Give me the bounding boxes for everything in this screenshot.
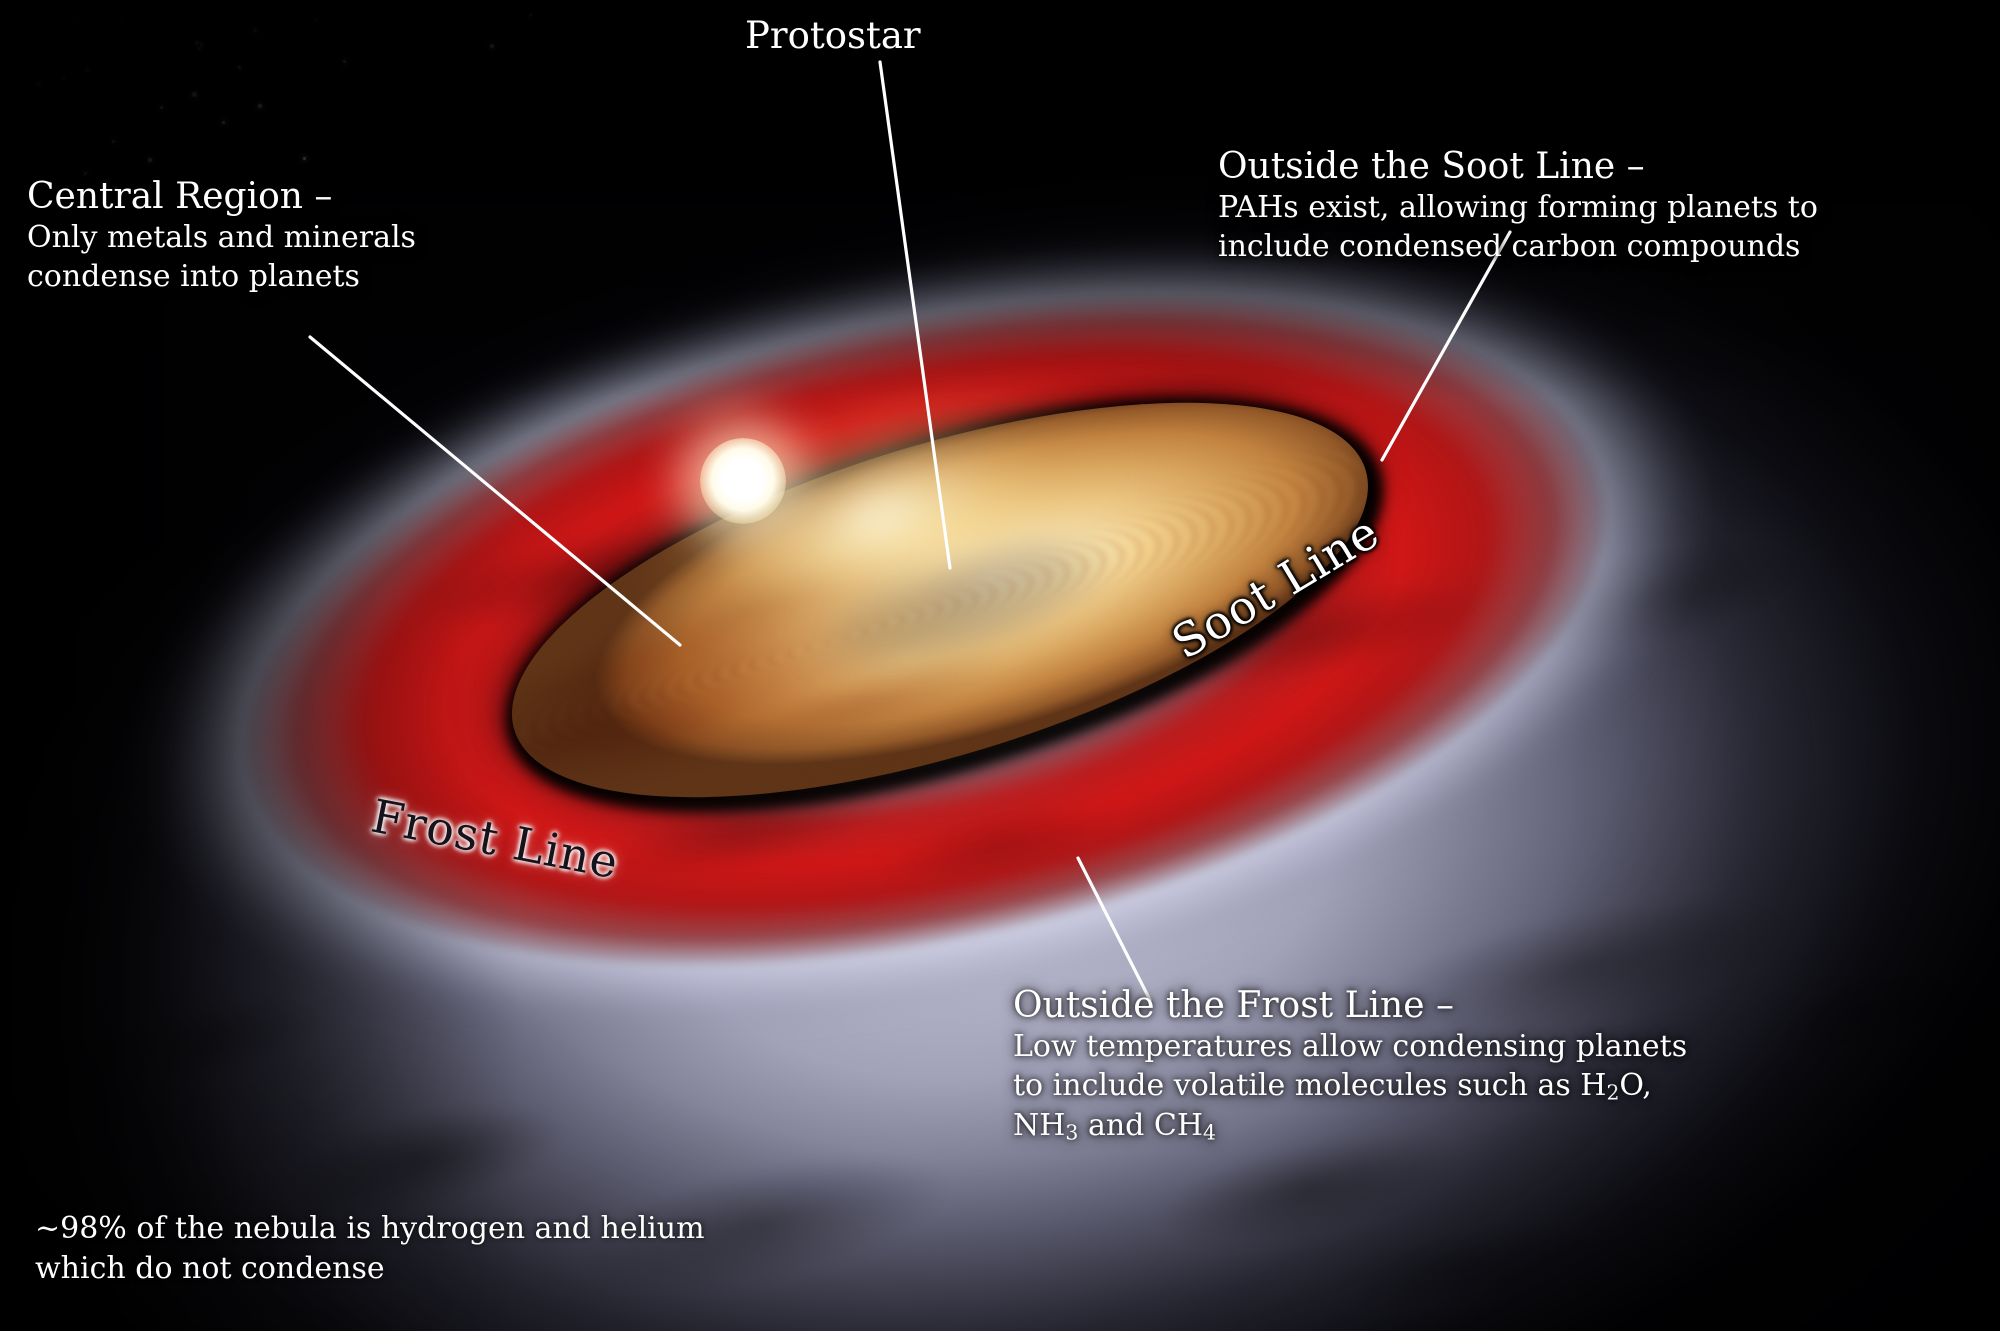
label-protostar-text: Protostar bbox=[745, 14, 921, 57]
annotation-outside-frost-line-line2: to include volatile molecules such as H2… bbox=[1013, 1066, 1687, 1106]
annotation-outside-soot-line-line1: PAHs exist, allowing forming planets to bbox=[1218, 188, 1818, 227]
annotation-central-region-line1: Only metals and minerals bbox=[27, 218, 416, 257]
frost-line-line2-suffix: O, bbox=[1619, 1068, 1651, 1103]
annotation-footnote-line2: which do not condense bbox=[35, 1249, 705, 1289]
annotation-central-region: Central Region – Only metals and mineral… bbox=[27, 176, 416, 296]
annotation-footnote-line1: ~98% of the nebula is hydrogen and heliu… bbox=[35, 1209, 705, 1249]
frost-line-line3-mid: and CH bbox=[1078, 1108, 1203, 1143]
frost-line-line3-nh-sub: 3 bbox=[1065, 1121, 1078, 1145]
label-protostar: Protostar bbox=[745, 14, 921, 57]
frost-line-line2-prefix: to include volatile molecules such as H bbox=[1013, 1068, 1606, 1103]
annotation-footnote: ~98% of the nebula is hydrogen and heliu… bbox=[35, 1209, 705, 1289]
annotation-outside-frost-line-line1: Low temperatures allow condensing planet… bbox=[1013, 1027, 1687, 1066]
annotation-outside-soot-line: Outside the Soot Line – PAHs exist, allo… bbox=[1218, 146, 1818, 266]
annotation-outside-frost-line-line3: NH3 and CH4 bbox=[1013, 1106, 1687, 1146]
star-icon bbox=[700, 438, 786, 524]
frost-line-line3-ch-sub: 4 bbox=[1203, 1121, 1216, 1145]
annotation-central-region-heading: Central Region – bbox=[27, 176, 416, 218]
diagram-canvas: Protostar Central Region – Only metals a… bbox=[0, 0, 2000, 1331]
annotation-outside-soot-line-line2: include condensed carbon compounds bbox=[1218, 227, 1818, 266]
annotation-outside-frost-line-heading: Outside the Frost Line – bbox=[1013, 985, 1687, 1027]
annotation-outside-frost-line: Outside the Frost Line – Low temperature… bbox=[1013, 985, 1687, 1146]
frost-line-line3-nh: NH bbox=[1013, 1108, 1065, 1143]
annotation-outside-soot-line-heading: Outside the Soot Line – bbox=[1218, 146, 1818, 188]
frost-line-line2-sub: 2 bbox=[1606, 1081, 1619, 1105]
annotation-central-region-line2: condense into planets bbox=[27, 257, 416, 296]
